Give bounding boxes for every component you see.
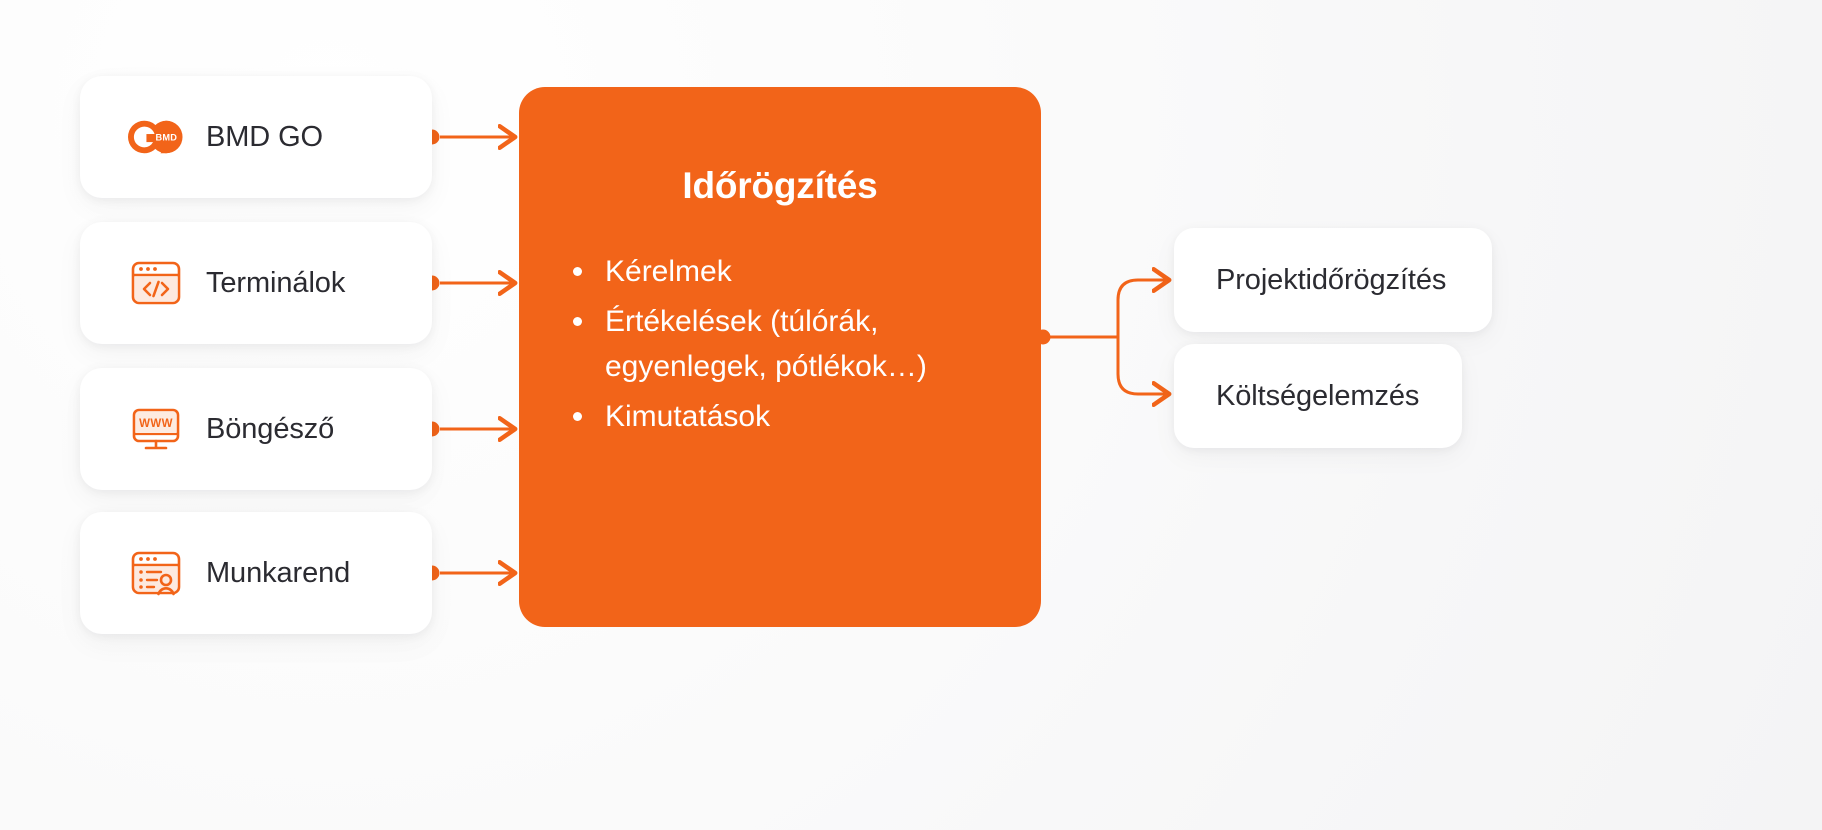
center-panel-idorogzites[interactable]: Időrögzítés Kérelmek Értékelések (túlórá…	[519, 87, 1041, 627]
center-list-item: Értékelések (túlórák, egyenlegek, pótlék…	[569, 299, 1001, 390]
source-card-label: BMD GO	[206, 121, 323, 154]
svg-text:BMD: BMD	[156, 133, 178, 143]
code-window-icon	[128, 255, 184, 311]
source-card-munkarend[interactable]: Munkarend	[80, 512, 432, 634]
source-card-bongeszo[interactable]: WWW Böngésző	[80, 368, 432, 490]
source-card-label: Böngésző	[206, 413, 334, 446]
output-card-label: Projektidőrögzítés	[1216, 264, 1446, 297]
source-card-label: Munkarend	[206, 557, 350, 590]
center-panel-title: Időrögzítés	[519, 87, 1041, 207]
connector-branch-cost	[1118, 337, 1168, 394]
schedule-user-window-icon	[128, 545, 184, 601]
center-list-item: Kimutatások	[569, 394, 1001, 440]
source-card-terminalok[interactable]: Terminálok	[80, 222, 432, 344]
bmd-go-logo-icon: BMD	[128, 109, 184, 165]
svg-text:WWW: WWW	[139, 418, 173, 430]
source-card-label: Terminálok	[206, 267, 345, 300]
source-card-bmd-go[interactable]: BMD BMD GO	[80, 76, 432, 198]
center-list-item: Kérelmek	[569, 249, 1001, 295]
output-card-koltsegelemzes[interactable]: Költségelemzés	[1174, 344, 1462, 448]
connector-branch-project	[1118, 280, 1168, 337]
monitor-www-icon: WWW	[128, 401, 184, 457]
output-card-label: Költségelemzés	[1216, 380, 1419, 413]
diagram-canvas: BMD BMD GO Terminálok	[0, 0, 1822, 830]
output-card-projektidorogzites[interactable]: Projektidőrögzítés	[1174, 228, 1492, 332]
center-panel-feature-list: Kérelmek Értékelések (túlórák, egyenlege…	[519, 207, 1041, 439]
